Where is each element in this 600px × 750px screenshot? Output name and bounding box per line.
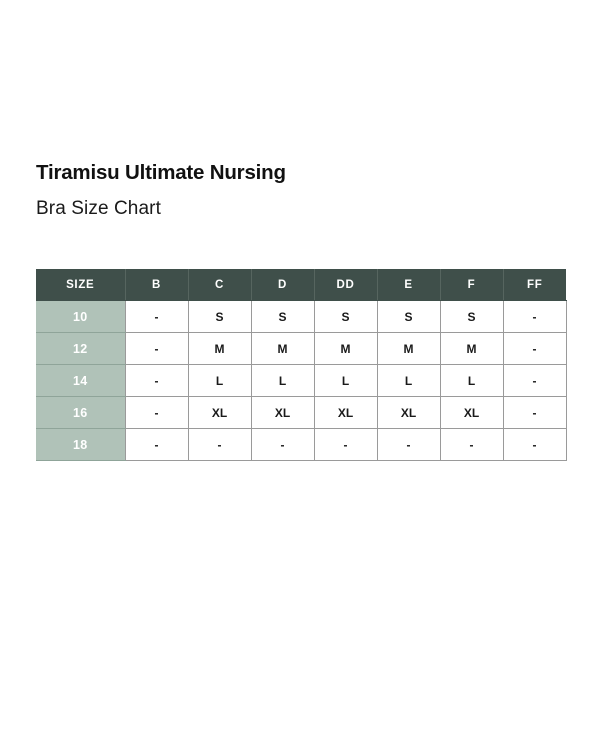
column-header-dd: DD xyxy=(314,269,377,301)
cell-12-d: M xyxy=(251,333,314,365)
cell-12-e: M xyxy=(377,333,440,365)
cell-14-ff: - xyxy=(503,365,566,397)
column-header-c: C xyxy=(188,269,251,301)
cell-18-b: - xyxy=(125,429,188,461)
column-header-ff: FF xyxy=(503,269,566,301)
cell-18-c: - xyxy=(188,429,251,461)
column-header-size: SIZE xyxy=(36,269,125,301)
column-header-b: B xyxy=(125,269,188,301)
table-row: 18 - - - - - - - xyxy=(36,429,566,461)
size-cell-10: 10 xyxy=(36,301,125,333)
cell-10-f: S xyxy=(440,301,503,333)
table-row: 14 - L L L L L - xyxy=(36,365,566,397)
table-body: 10 - S S S S S - 12 - M M M M M xyxy=(36,301,566,461)
cell-12-ff: - xyxy=(503,333,566,365)
cell-14-c: L xyxy=(188,365,251,397)
cell-12-b: - xyxy=(125,333,188,365)
cell-16-dd: XL xyxy=(314,397,377,429)
cell-12-c: M xyxy=(188,333,251,365)
size-chart-table-container: SIZE B C D DD E F FF 10 - S S S S xyxy=(36,269,565,461)
cell-14-f: L xyxy=(440,365,503,397)
table-header: SIZE B C D DD E F FF xyxy=(36,269,566,301)
cell-10-e: S xyxy=(377,301,440,333)
size-chart-page: Tiramisu Ultimate Nursing Bra Size Chart… xyxy=(0,0,600,750)
bra-size-chart-table: SIZE B C D DD E F FF 10 - S S S S xyxy=(36,269,567,461)
cell-10-dd: S xyxy=(314,301,377,333)
cell-16-b: - xyxy=(125,397,188,429)
cell-18-d: - xyxy=(251,429,314,461)
cell-10-d: S xyxy=(251,301,314,333)
page-title: Tiramisu Ultimate Nursing xyxy=(36,160,566,186)
cell-10-b: - xyxy=(125,301,188,333)
cell-14-d: L xyxy=(251,365,314,397)
cell-10-ff: - xyxy=(503,301,566,333)
cell-12-f: M xyxy=(440,333,503,365)
column-header-d: D xyxy=(251,269,314,301)
cell-18-e: - xyxy=(377,429,440,461)
cell-12-dd: M xyxy=(314,333,377,365)
size-cell-18: 18 xyxy=(36,429,125,461)
size-cell-12: 12 xyxy=(36,333,125,365)
column-header-f: F xyxy=(440,269,503,301)
size-cell-16: 16 xyxy=(36,397,125,429)
cell-14-e: L xyxy=(377,365,440,397)
page-subtitle: Bra Size Chart xyxy=(36,197,566,221)
cell-10-c: S xyxy=(188,301,251,333)
cell-16-ff: - xyxy=(503,397,566,429)
cell-16-f: XL xyxy=(440,397,503,429)
page-heading: Tiramisu Ultimate Nursing Bra Size Chart xyxy=(36,160,566,220)
cell-16-c: XL xyxy=(188,397,251,429)
table-row: 10 - S S S S S - xyxy=(36,301,566,333)
cell-18-ff: - xyxy=(503,429,566,461)
cell-16-d: XL xyxy=(251,397,314,429)
cell-14-dd: L xyxy=(314,365,377,397)
cell-18-f: - xyxy=(440,429,503,461)
table-row: 12 - M M M M M - xyxy=(36,333,566,365)
column-header-e: E xyxy=(377,269,440,301)
cell-18-dd: - xyxy=(314,429,377,461)
size-cell-14: 14 xyxy=(36,365,125,397)
cell-14-b: - xyxy=(125,365,188,397)
table-row: 16 - XL XL XL XL XL - xyxy=(36,397,566,429)
table-header-row: SIZE B C D DD E F FF xyxy=(36,269,566,301)
cell-16-e: XL xyxy=(377,397,440,429)
